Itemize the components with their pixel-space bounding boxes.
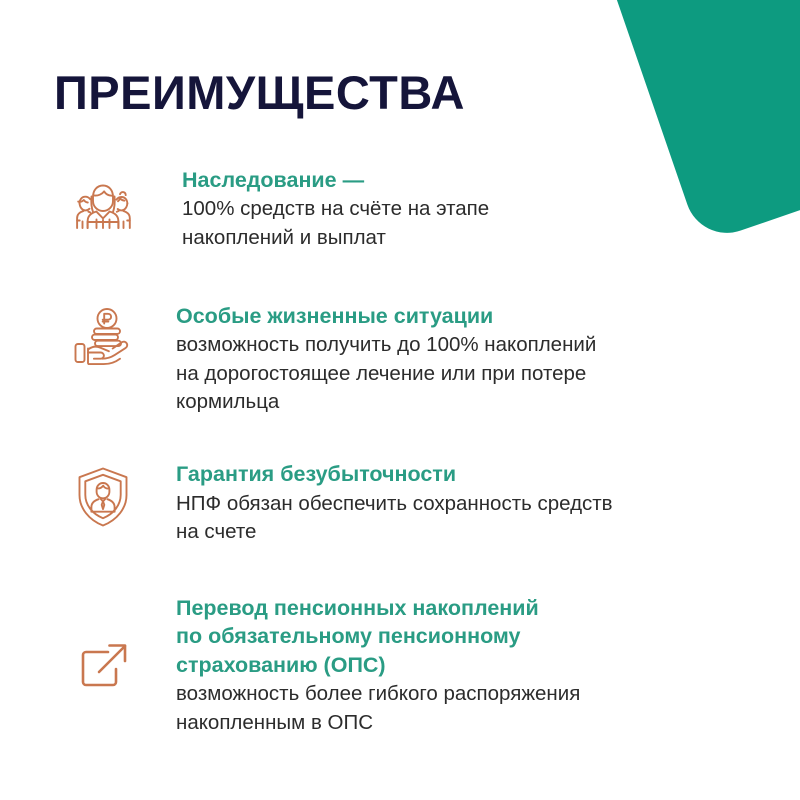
benefit-body: НПФ обязан обеспечить сохранность средст… [176, 490, 800, 547]
benefit-item-ops-transfer: Перевод пенсионных накоплений по обязате… [0, 588, 800, 737]
benefit-text-ops-transfer: Перевод пенсионных накоплений по обязате… [140, 588, 800, 737]
benefit-heading: Наследование — [182, 166, 800, 194]
benefit-heading: Особые жизненные ситуации [176, 302, 800, 330]
benefit-heading: Перевод пенсионных накоплений по обязате… [176, 594, 800, 679]
hand-holding-coins-ruble-icon [66, 302, 140, 376]
shield-person-icon [66, 460, 140, 534]
benefit-body: возможность более гибкого распоряжения н… [176, 680, 800, 737]
family-group-icon [66, 170, 140, 244]
benefit-text-special-life-situations: Особые жизненные ситуации возможность по… [140, 296, 800, 416]
benefit-text-break-even-guarantee: Гарантия безубыточности НПФ обязан обесп… [140, 454, 800, 546]
benefit-item-special-life-situations: Особые жизненные ситуации возможность по… [0, 296, 800, 416]
benefit-body: возможность получить до 100% накоплений … [176, 331, 800, 416]
benefits-list: Наследование — 100% средств на счёте на … [0, 160, 800, 737]
slide-canvas: ПРЕИМУЩЕСТВА [0, 0, 800, 800]
benefit-heading: Гарантия безубыточности [176, 460, 800, 488]
benefit-item-inheritance: Наследование — 100% средств на счёте на … [0, 160, 800, 252]
export-arrow-icon [66, 630, 140, 704]
benefit-text-inheritance: Наследование — 100% средств на счёте на … [140, 160, 800, 252]
page-title: ПРЕИМУЩЕСТВА [54, 67, 465, 119]
benefit-item-break-even-guarantee: Гарантия безубыточности НПФ обязан обесп… [0, 454, 800, 546]
benefit-body: 100% средств на счёте на этапе накоплени… [182, 195, 800, 252]
